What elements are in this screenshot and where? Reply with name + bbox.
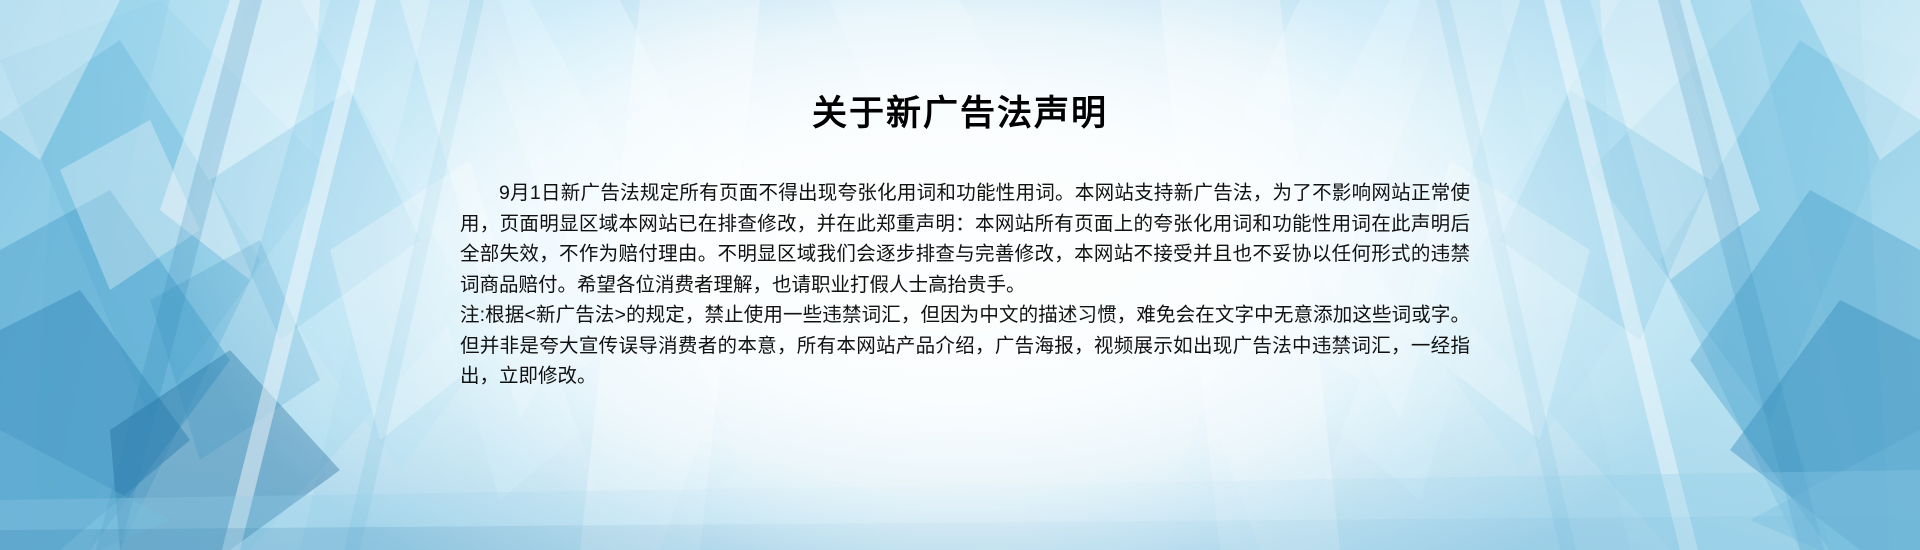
statement-paragraph-main: 9月1日新广告法规定所有页面不得出现夸张化用词和功能性用词。本网站支持新广告法，… <box>460 178 1470 300</box>
page-title: 关于新广告法声明 <box>0 92 1920 136</box>
banner-stage: 关于新广告法声明 9月1日新广告法规定所有页面不得出现夸张化用词和功能性用词。本… <box>0 0 1920 550</box>
statement-paragraph-note: 注:根据<新广告法>的规定，禁止使用一些违禁词汇，但因为中文的描述习惯，难免会在… <box>460 300 1470 392</box>
statement-text-block: 9月1日新广告法规定所有页面不得出现夸张化用词和功能性用词。本网站支持新广告法，… <box>460 178 1470 392</box>
statement-content: 关于新广告法声明 9月1日新广告法规定所有页面不得出现夸张化用词和功能性用词。本… <box>0 0 1920 550</box>
